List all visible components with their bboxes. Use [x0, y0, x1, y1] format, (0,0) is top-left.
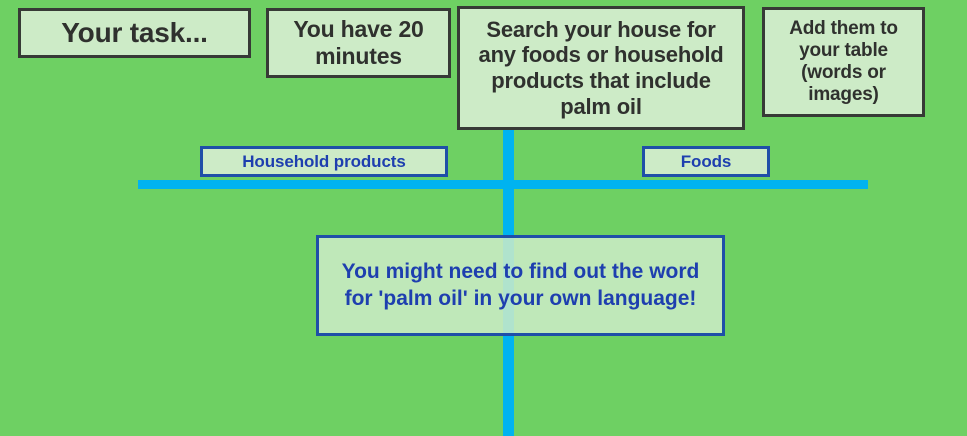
instruction-text-time-limit: You have 20 minutes — [277, 16, 440, 69]
instruction-box-search-house: Search your house for any foods or house… — [457, 6, 745, 130]
instruction-text-search-house: Search your house for any foods or house… — [470, 17, 732, 119]
tip-text: You might need to find out the word for … — [333, 259, 708, 313]
quadrant-label-text-household-products: Household products — [242, 152, 405, 172]
quadrant-label-household-products: Household products — [200, 146, 448, 177]
instruction-box-add-to-table: Add them to your table (words or images) — [762, 7, 925, 117]
instruction-text-your-task: Your task... — [61, 17, 207, 49]
horizontal-axis-line — [138, 180, 868, 189]
instruction-box-your-task: Your task... — [18, 8, 251, 58]
instruction-text-add-to-table: Add them to your table (words or images) — [773, 18, 914, 106]
tip-box: You might need to find out the word for … — [316, 235, 725, 336]
instruction-box-time-limit: You have 20 minutes — [266, 8, 451, 78]
quadrant-label-text-foods: Foods — [681, 152, 732, 172]
slide-canvas: Your task... You have 20 minutes Search … — [0, 0, 967, 436]
quadrant-label-foods: Foods — [642, 146, 770, 177]
